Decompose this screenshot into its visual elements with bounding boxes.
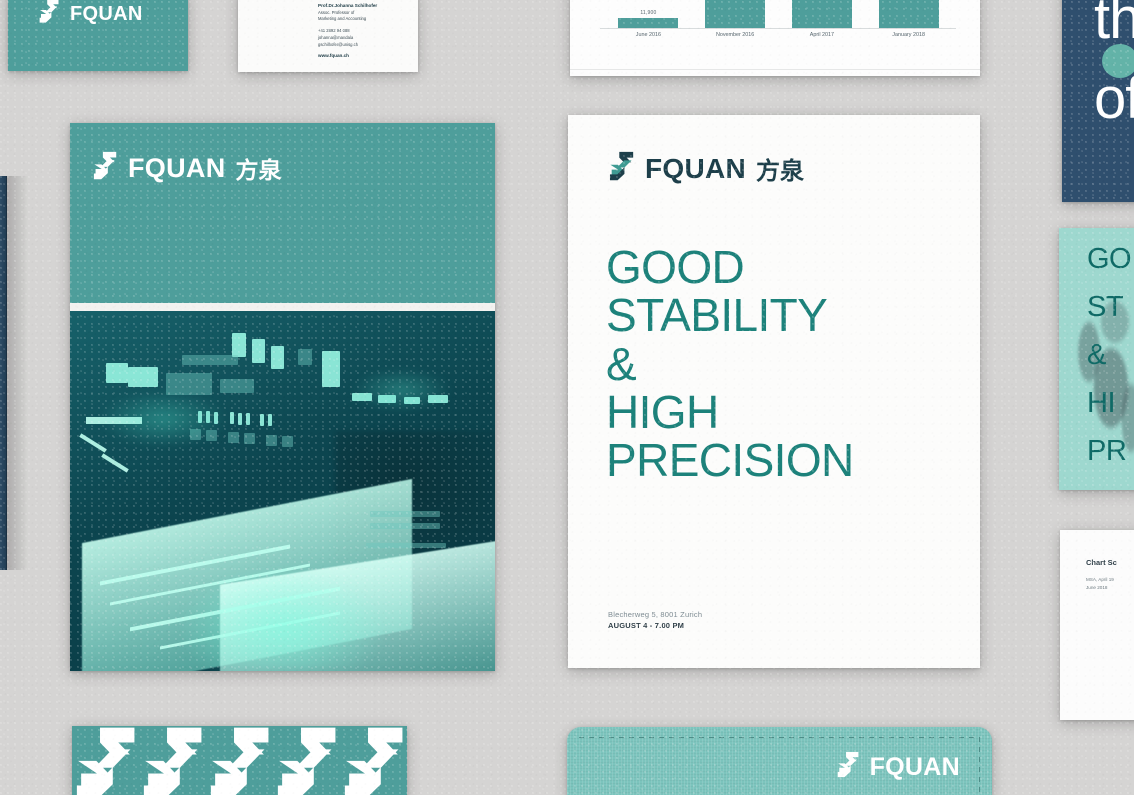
business-card: Technology Ltd. Prof.Dr.Johanna Schilhof… — [238, 0, 418, 72]
wordmark-text: FQUAN — [645, 155, 746, 183]
bc-person-name: Prof.Dr.Johanna Schilhofer — [318, 2, 377, 9]
pattern-motif-icon — [273, 726, 340, 795]
headline-line-4: HIGH — [606, 388, 962, 436]
bar-rect — [618, 18, 678, 28]
sliver-shadow — [6, 176, 28, 570]
logo-lockup-white: FQUAN — [38, 0, 143, 28]
pattern-motif-icon — [340, 726, 407, 795]
event-poster: FQUAN 方泉 GOOD STABILITY & HIGH PRECISION… — [568, 115, 980, 668]
bc-contact-2: johanna@mandala — [318, 35, 353, 42]
bar-rect — [705, 0, 765, 28]
pattern-motif-icon — [206, 726, 273, 795]
pattern-card — [72, 726, 407, 795]
x-tick-label: April 2017 — [792, 32, 852, 38]
chart-document-top: 11,900 34,000 June 2016 Nov — [570, 0, 980, 76]
fquan-logo-mark-icon — [38, 0, 60, 28]
divider — [570, 69, 980, 70]
x-tick-label: November 2016 — [705, 32, 765, 38]
poster-headline: GOOD STABILITY & HIGH PRECISION — [606, 243, 962, 484]
fquan-logo-mark-icon — [836, 751, 860, 783]
bar-item: 11,900 — [618, 0, 678, 28]
x-tick-label: January 2018 — [879, 32, 939, 38]
wordmark-text: FQUAN — [870, 755, 960, 780]
pattern-motif-icon — [139, 726, 206, 795]
wordmark-text: FQUAN — [70, 4, 143, 24]
doc2-heading: Chart Sc — [1086, 558, 1117, 567]
circuit-board-photo — [70, 311, 495, 671]
bc-contact-1: +41 2892 94 088 — [318, 28, 350, 35]
mint-line-5: PR — [1087, 434, 1126, 468]
pattern-repeat — [72, 726, 407, 795]
bar-rect — [792, 0, 852, 28]
bar-series: 11,900 34,000 — [605, 0, 952, 28]
x-axis-line — [600, 28, 956, 29]
stitch-line-right — [979, 737, 980, 795]
bc-role-2: Marketing and Accounting — [318, 16, 366, 23]
mint-line-3: & — [1087, 338, 1106, 372]
bc-contact-3: gschilhofer@unisg.ch — [318, 42, 358, 49]
bar-chart: 11,900 34,000 — [605, 0, 952, 28]
teal-logo-card: FQUAN — [8, 0, 188, 71]
wordmark-chinese: 方泉 — [236, 151, 282, 185]
mint-line-4: HI — [1087, 386, 1115, 420]
pattern-motif-icon — [72, 726, 139, 795]
fquan-logo-mark-icon — [608, 151, 635, 186]
brochure-cover: FQUAN 方泉 — [70, 123, 495, 671]
poster-datetime: AUGUST 4 - 7.00 PM — [608, 621, 702, 630]
bar-item: 34,000 — [705, 0, 765, 28]
logo-lockup-white: FQUAN 方泉 — [92, 151, 282, 185]
navy-text-line-1: th — [1094, 0, 1134, 45]
bar-item — [792, 0, 852, 28]
poster-address: Blecherweg 5, 8001 Zurich — [608, 610, 702, 619]
wordmark-text: FQUAN — [128, 155, 226, 182]
logo-lockup-dark: FQUAN 方泉 — [608, 151, 804, 186]
brochure-header-band — [70, 123, 495, 303]
wordmark-chinese: 方泉 — [756, 151, 804, 186]
fquan-logo-mark-icon — [92, 151, 118, 185]
mint-line-1: GO — [1087, 242, 1131, 276]
fabric-folder: FQUAN — [567, 727, 992, 795]
chart-document-bottom: Chart Sc MSA, April 19 June 2018 — [1060, 530, 1134, 720]
x-tick-label: June 2016 — [618, 32, 678, 38]
headline-line-5: PRECISION — [606, 436, 962, 484]
logo-lockup-white: FQUAN — [836, 751, 960, 783]
navy-text-line-2: of — [1094, 72, 1134, 125]
doc2-sub-1: MSA, April 19 — [1086, 576, 1114, 583]
poster-footer: Blecherweg 5, 8001 Zurich AUGUST 4 - 7.0… — [608, 610, 702, 630]
mint-line-2: ST — [1087, 290, 1123, 324]
x-axis-labels: June 2016 November 2016 April 2017 Janua… — [605, 32, 952, 38]
stitch-line-top — [579, 737, 980, 738]
bar-value-label: 11,900 — [640, 10, 656, 16]
headline-line-1: GOOD — [606, 243, 962, 291]
mint-poster-panel: GO ST & HI PR — [1059, 228, 1134, 490]
headline-line-3: & — [606, 340, 962, 388]
bar-rect — [879, 0, 939, 28]
headline-line-2: STABILITY — [606, 291, 962, 339]
navy-poster-panel: th of — [1062, 0, 1134, 202]
bc-website: www.fquan.ch — [318, 52, 349, 59]
bar-item — [879, 0, 939, 28]
doc2-sub-2: June 2018 — [1086, 584, 1107, 591]
